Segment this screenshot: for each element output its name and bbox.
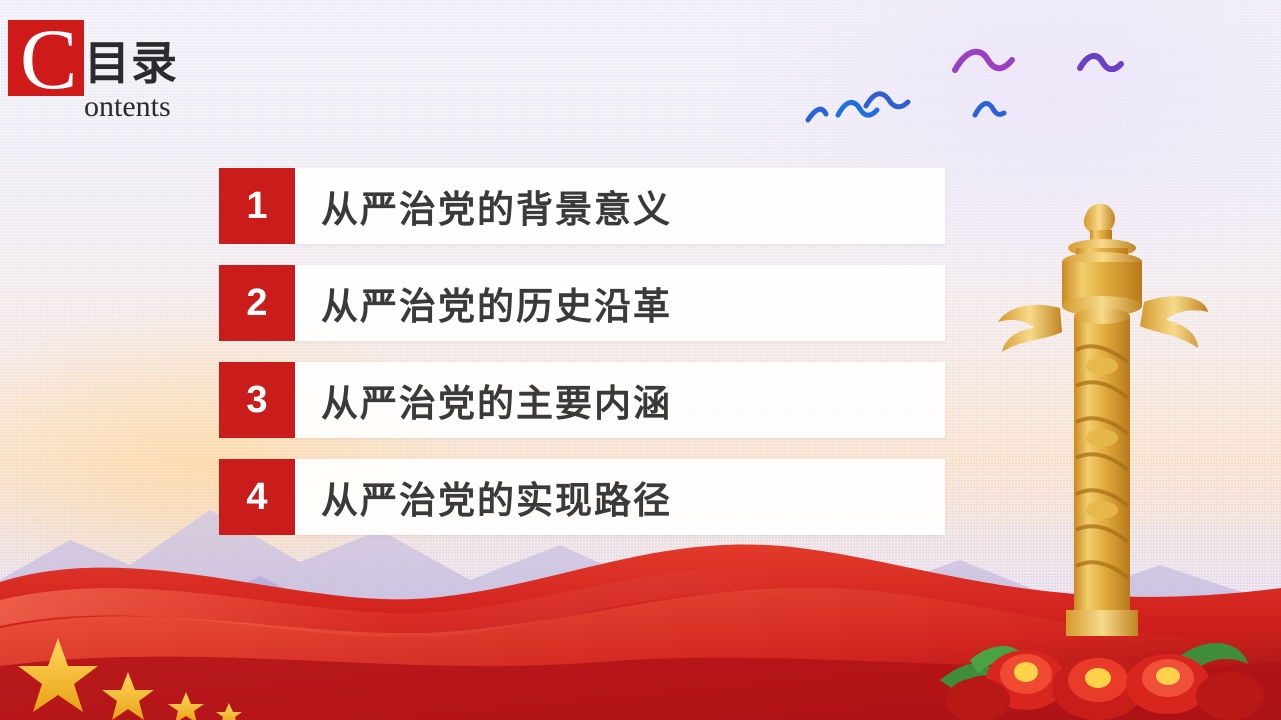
list-item[interactable]: 1 从严治党的背景意义 (219, 168, 945, 244)
logo-letter-c: C (20, 16, 77, 102)
peony-flowers-icon (930, 560, 1270, 720)
logo-title-en: ontents (84, 92, 171, 122)
toc-number-badge: 2 (219, 265, 295, 341)
contents-logo: C 目录 ontents (8, 20, 218, 124)
list-item[interactable]: 3 从严治党的主要内涵 (219, 362, 945, 438)
list-item[interactable]: 2 从严治党的历史沿革 (219, 265, 945, 341)
toc-number-badge: 1 (219, 168, 295, 244)
toc-item-label: 从严治党的背景意义 (295, 168, 945, 244)
flying-birds-icon (780, 10, 1200, 150)
list-item[interactable]: 4 从严治党的实现路径 (219, 459, 945, 535)
toc-number-badge: 4 (219, 459, 295, 535)
golden-stars-icon (10, 610, 280, 720)
table-of-contents: 1 从严治党的背景意义 2 从严治党的历史沿革 3 从严治党的主要内涵 4 从严… (219, 168, 945, 556)
toc-number-badge: 3 (219, 362, 295, 438)
toc-item-label: 从严治党的主要内涵 (295, 362, 945, 438)
slide-canvas: C 目录 ontents 1 从严治党的背景意义 2 从严治党的历史沿革 3 从… (0, 0, 1281, 720)
toc-item-label: 从严治党的实现路径 (295, 459, 945, 535)
toc-item-label: 从严治党的历史沿革 (295, 265, 945, 341)
logo-title-cn: 目录 (84, 40, 178, 86)
